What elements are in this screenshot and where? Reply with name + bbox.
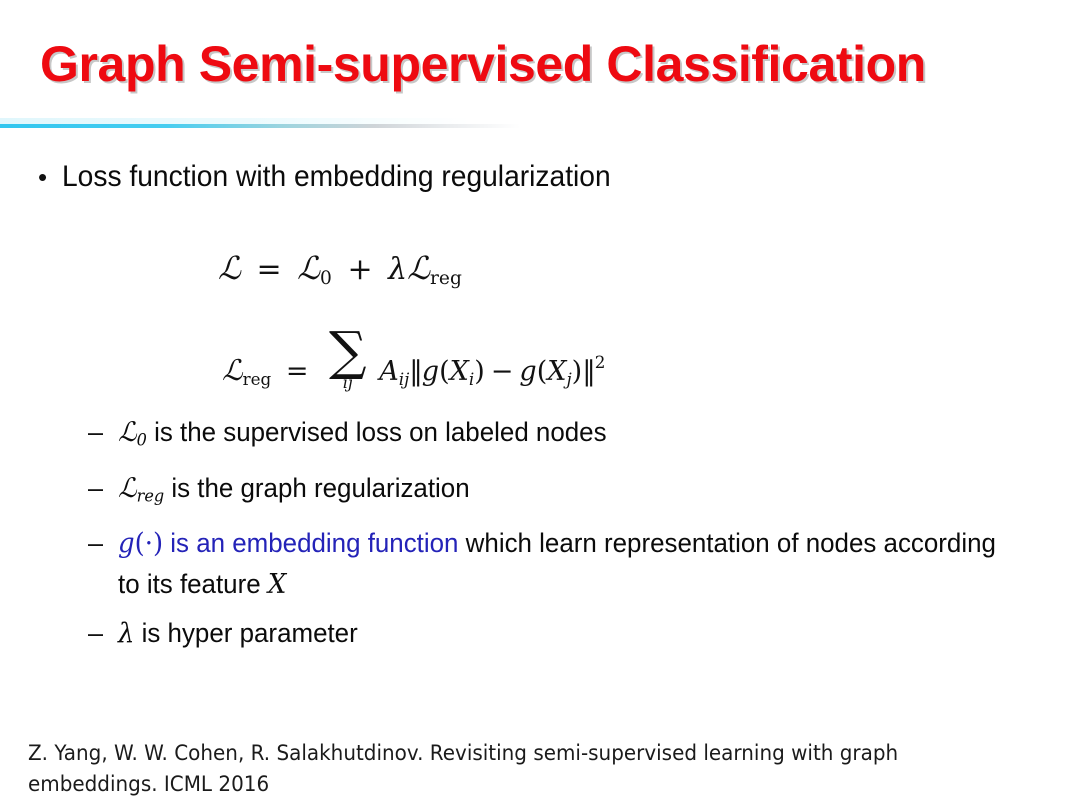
symbol-feature-x: X xyxy=(268,569,286,600)
symbol-g-args: (·) xyxy=(135,528,163,559)
eq2-g2-paren-close: ) xyxy=(572,356,583,387)
eq1-lambda: λ xyxy=(388,252,407,287)
symbol-g: g xyxy=(118,528,135,559)
list-item-label: λ is hyper parameter xyxy=(118,613,358,654)
list-item-label: g(·) is an embedding function which lear… xyxy=(118,523,1001,605)
eq2-g2-paren-open: ( xyxy=(537,356,548,387)
list-item-hyper-parameter: – λ is hyper parameter xyxy=(88,613,1038,654)
bullet-main: • Loss function with embedding regulariz… xyxy=(38,158,646,196)
list-item-loss-regularization: – ℒreg is the graph regularization xyxy=(88,468,1038,516)
list-item-loss-supervised: – ℒ0 is the supervised loss on labeled n… xyxy=(88,412,1038,460)
equation-total-loss: ℒ = ℒ0 + λℒreg xyxy=(218,250,462,289)
eq1-term1: ℒ xyxy=(297,250,320,287)
sigma-icon: ∑ xyxy=(329,330,367,374)
eq2-equals: = xyxy=(280,356,315,387)
eq2-coefficient-subscript: ij xyxy=(399,369,410,389)
sub-bullet-list: – ℒ0 is the supervised loss on labeled n… xyxy=(88,412,1038,662)
eq2-g1-arg: X xyxy=(450,356,469,387)
eq2-g1-paren-close: ) xyxy=(474,356,485,387)
eq2-coefficient: A xyxy=(379,356,399,387)
bullet-marker-icon: • xyxy=(38,158,62,196)
list-item-text: is hyper parameter xyxy=(134,618,357,648)
summation-operator: ∑ ij xyxy=(329,330,367,391)
eq1-term2: ℒ xyxy=(407,250,430,287)
equation-regularization-loss: ℒreg = ∑ ij Aij‖g(Xi)−g(Xj)‖2 xyxy=(222,330,605,391)
eq1-term2-subscript: reg xyxy=(430,268,462,289)
list-item-label: ℒ0 is the supervised loss on labeled nod… xyxy=(118,412,607,460)
dash-marker-icon: – xyxy=(88,523,118,563)
list-item-text: is the graph regularization xyxy=(164,473,469,503)
dash-marker-icon: – xyxy=(88,613,118,653)
symbol-loss-zero-subscript: 0 xyxy=(137,430,147,450)
eq2-norm-open: ‖ xyxy=(409,356,422,387)
eq2-lhs: ℒ xyxy=(222,353,243,387)
eq2-g2: g xyxy=(519,356,536,387)
eq2-g1-paren-open: ( xyxy=(439,356,450,387)
eq1-lhs: ℒ xyxy=(218,250,241,287)
eq1-plus: + xyxy=(341,252,378,287)
eq1-equals: = xyxy=(250,252,287,287)
list-item-label: ℒreg is the graph regularization xyxy=(118,468,470,516)
symbol-loss-reg-subscript: reg xyxy=(137,485,164,505)
eq2-g1: g xyxy=(422,356,439,387)
eq2-norm-close: ‖ xyxy=(582,356,595,387)
list-item-embedding-function: – g(·) is an embedding function which le… xyxy=(88,523,1038,605)
dash-marker-icon: – xyxy=(88,412,118,452)
eq2-g2-arg: X xyxy=(547,356,566,387)
page-title: Graph Semi-supervised Classification xyxy=(40,36,1040,92)
list-item-text: is the supervised loss on labeled nodes xyxy=(147,417,607,447)
eq2-exponent: 2 xyxy=(595,352,606,372)
eq1-term1-subscript: 0 xyxy=(320,268,332,289)
symbol-loss-reg: ℒ xyxy=(118,473,137,504)
dash-marker-icon: – xyxy=(88,468,118,508)
eq2-minus: − xyxy=(485,356,520,387)
symbol-loss-zero: ℒ xyxy=(118,417,137,448)
bullet-main-label: Loss function with embedding regularizat… xyxy=(62,158,611,196)
symbol-lambda: λ xyxy=(118,618,134,649)
eq2-lhs-subscript: reg xyxy=(243,369,272,389)
citation-text: Z. Yang, W. W. Cohen, R. Salakhutdinov. … xyxy=(28,738,959,800)
list-item-highlight-text: is an embedding function xyxy=(163,528,458,558)
title-divider xyxy=(0,124,520,128)
